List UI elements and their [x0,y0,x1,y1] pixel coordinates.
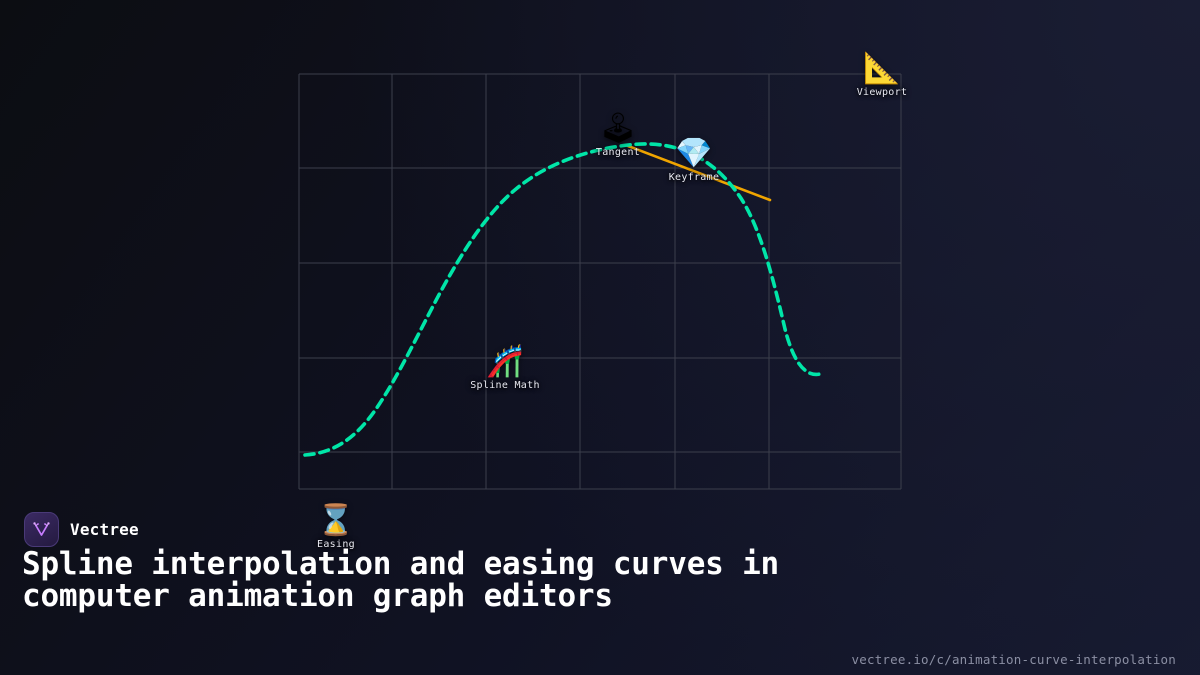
hourglass-icon: ⌛ [317,504,354,538]
page-title: Spline interpolation and easing curves i… [22,548,812,612]
animation-curve-graph: ⌛ Easing 🎢 Spline Math 🕹 Tangent 💎 Keyfr… [298,72,902,491]
social-card: ⌛ Easing 🎢 Spline Math 🕹 Tangent 💎 Keyfr… [0,0,1200,675]
marker-easing[interactable]: ⌛ Easing [276,504,396,550]
marker-viewport-label: Viewport [857,87,908,98]
marker-keyframe-label: Keyframe [669,172,720,183]
marker-keyframe[interactable]: 💎 Keyframe [634,137,754,183]
marker-viewport[interactable]: 📐 Viewport [822,52,942,98]
logo-glyph [32,520,51,539]
brand[interactable]: Vectree [24,512,139,547]
triangular-ruler-icon: 📐 [863,52,900,86]
brand-name: Vectree [70,520,139,539]
marker-spline-math-label: Spline Math [470,380,540,391]
vectree-tree-mark-icon [24,512,59,547]
gem-stone-icon: 💎 [675,137,712,171]
source-url: vectree.io/c/animation-curve-interpolati… [852,652,1176,667]
marker-spline-math[interactable]: 🎢 Spline Math [445,345,565,391]
roller-coaster-icon: 🎢 [486,345,523,379]
joystick-icon: 🕹 [599,112,637,146]
